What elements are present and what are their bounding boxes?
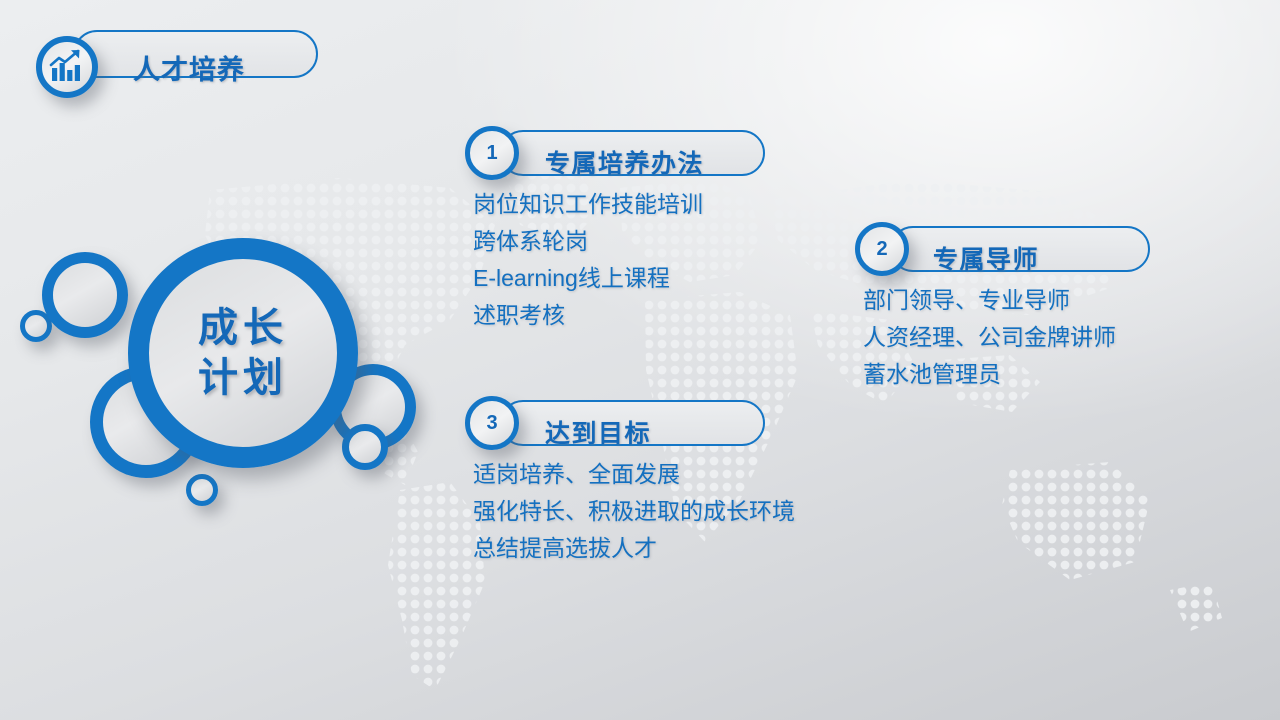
- header-badge: 人才培养: [18, 20, 318, 90]
- step-3-title: 达到目标: [545, 414, 651, 450]
- step-2-line-1: 部门领导、专业导师: [863, 282, 1116, 319]
- step-3-number: 3: [465, 396, 519, 450]
- step-1-line-1: 岗位知识工作技能培训: [473, 186, 703, 223]
- step-3-body: 适岗培养、全面发展 强化特长、积极进取的成长环境 总结提高选拔人才: [473, 456, 795, 567]
- hub-main-circle: [128, 238, 358, 468]
- step-2-title: 专属导师: [933, 240, 1039, 276]
- step-1-line-2: 跨体系轮岗: [473, 223, 703, 260]
- step-1-title: 专属培养办法: [545, 144, 704, 180]
- hub-bubble-tiny-bottom: [186, 474, 218, 506]
- slide-canvas: 人才培养 成长 计划 1 专属培养办法 岗位知识工作技能培训 跨体系轮岗 E-l…: [0, 0, 1280, 720]
- step-2-line-3: 蓄水池管理员: [863, 356, 1116, 393]
- step-1-body: 岗位知识工作技能培训 跨体系轮岗 E-learning线上课程 述职考核: [473, 186, 703, 334]
- step-1-line-4: 述职考核: [473, 297, 703, 334]
- step-2-number: 2: [855, 222, 909, 276]
- header-title: 人才培养: [133, 48, 245, 87]
- growth-bar-chart-icon: [48, 48, 86, 86]
- step-1-number: 1: [465, 126, 519, 180]
- hub-bubble-upper-left: [42, 252, 128, 338]
- hub-bubble-small-right: [342, 424, 388, 470]
- step-2-body: 部门领导、专业导师 人资经理、公司金牌讲师 蓄水池管理员: [863, 282, 1116, 393]
- step-3-line-1: 适岗培养、全面发展: [473, 456, 795, 493]
- step-1-line-3: E-learning线上课程: [473, 260, 703, 297]
- step-3-line-2: 强化特长、积极进取的成长环境: [473, 493, 795, 530]
- step-3-line-3: 总结提高选拔人才: [473, 530, 795, 567]
- step-2-line-2: 人资经理、公司金牌讲师: [863, 319, 1116, 356]
